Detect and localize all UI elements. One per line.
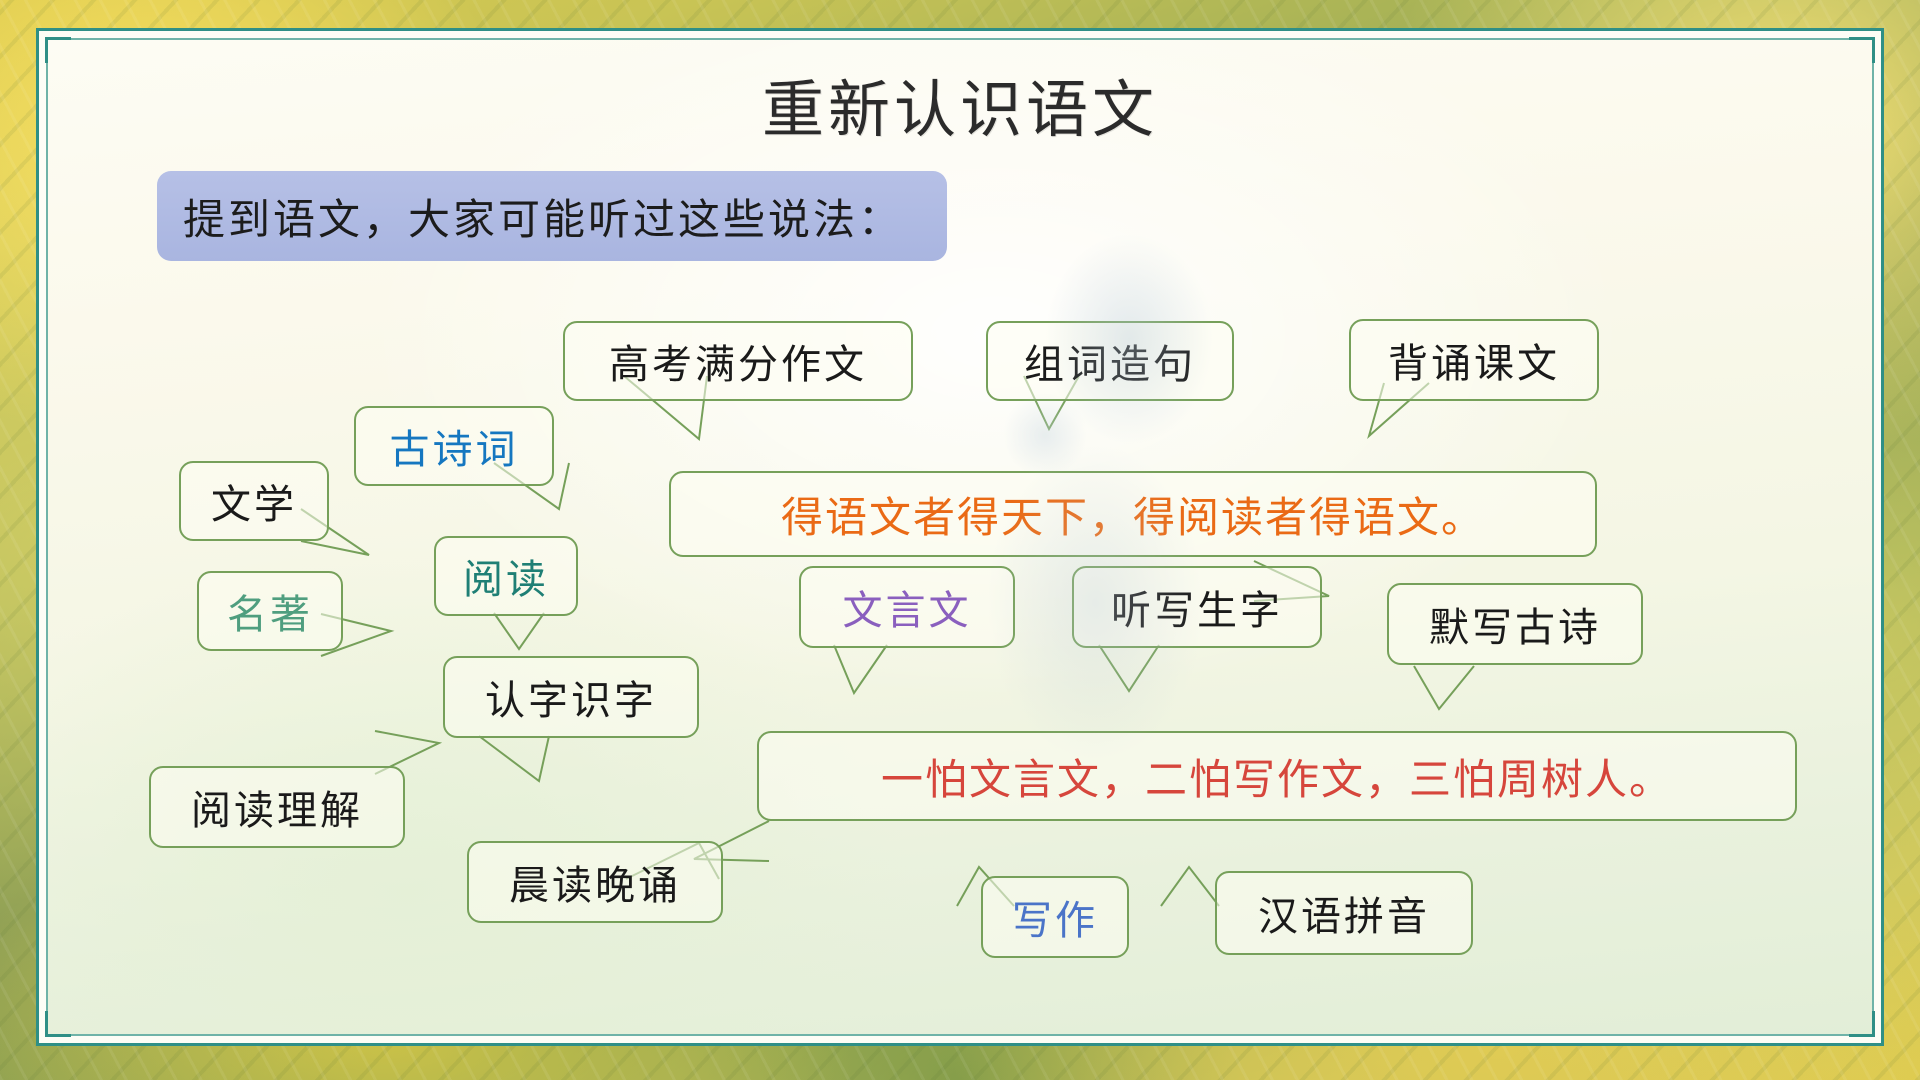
bubble-saying-red[interactable]: 一怕文言文，二怕写作文，三怕周树人。 <box>757 731 1797 821</box>
bubble-label: 认字识字 <box>485 668 657 726</box>
bubble-label: 名著 <box>227 582 313 640</box>
intro-banner-text: 提到语文，大家可能听过这些说法： <box>183 186 903 247</box>
intro-banner: 提到语文，大家可能听过这些说法： <box>157 171 947 261</box>
bubble-write-poems[interactable]: 默写古诗 <box>1387 583 1643 665</box>
bubble-label: 背诵课文 <box>1388 331 1560 389</box>
bubble-morning-recite[interactable]: 晨读晚诵 <box>467 841 723 923</box>
bubble-label: 组词造句 <box>1024 332 1196 390</box>
bubble-literature[interactable]: 文学 <box>179 461 329 541</box>
corner-ornament-top-right <box>1849 37 1875 63</box>
bubble-gaokao-essay[interactable]: 高考满分作文 <box>563 321 913 401</box>
bubble-reading-comprehension[interactable]: 阅读理解 <box>149 766 405 848</box>
bubble-masterpiece[interactable]: 名著 <box>197 571 343 651</box>
bubble-recite-text[interactable]: 背诵课文 <box>1349 319 1599 401</box>
bubble-label: 写作 <box>1012 888 1098 946</box>
bubble-learn-characters[interactable]: 认字识字 <box>443 656 699 738</box>
corner-ornament-top-left <box>45 37 71 63</box>
corner-ornament-bottom-right <box>1849 1011 1875 1037</box>
corner-ornament-bottom-left <box>45 1011 71 1037</box>
bubble-classical-chinese[interactable]: 文言文 <box>799 566 1015 648</box>
bubble-label: 一怕文言文，二怕写作文，三怕周树人。 <box>881 746 1673 807</box>
bubble-saying-orange[interactable]: 得语文者得天下，得阅读者得语文。 <box>669 471 1597 557</box>
bubble-label: 晨读晚诵 <box>509 853 681 911</box>
bubble-label: 得语文者得天下，得阅读者得语文。 <box>781 484 1485 545</box>
bubble-label: 古诗词 <box>390 417 519 475</box>
bubble-dictation-chars[interactable]: 听写生字 <box>1072 566 1322 648</box>
bubble-pinyin[interactable]: 汉语拼音 <box>1215 871 1473 955</box>
bubble-reading[interactable]: 阅读 <box>434 536 578 616</box>
bubble-word-sentence[interactable]: 组词造句 <box>986 321 1234 401</box>
bubble-label: 文言文 <box>843 578 972 636</box>
bubble-label: 阅读 <box>463 547 549 605</box>
bubble-label: 阅读理解 <box>191 778 363 836</box>
slide-card: 重新认识语文 提到语文，大家可能听过这些说法： <box>36 28 1884 1046</box>
bubble-writing[interactable]: 写作 <box>981 876 1129 958</box>
bubble-label: 高考满分作文 <box>609 332 867 390</box>
bubble-label: 汉语拼音 <box>1258 884 1430 942</box>
bubble-label: 文学 <box>211 472 297 530</box>
bubble-label: 默写古诗 <box>1429 595 1601 653</box>
bubble-classic-poetry[interactable]: 古诗词 <box>354 406 554 486</box>
page-title: 重新认识语文 <box>39 77 1881 145</box>
slide-background: 重新认识语文 提到语文，大家可能听过这些说法： <box>0 0 1920 1080</box>
bubble-label: 听写生字 <box>1111 578 1283 636</box>
